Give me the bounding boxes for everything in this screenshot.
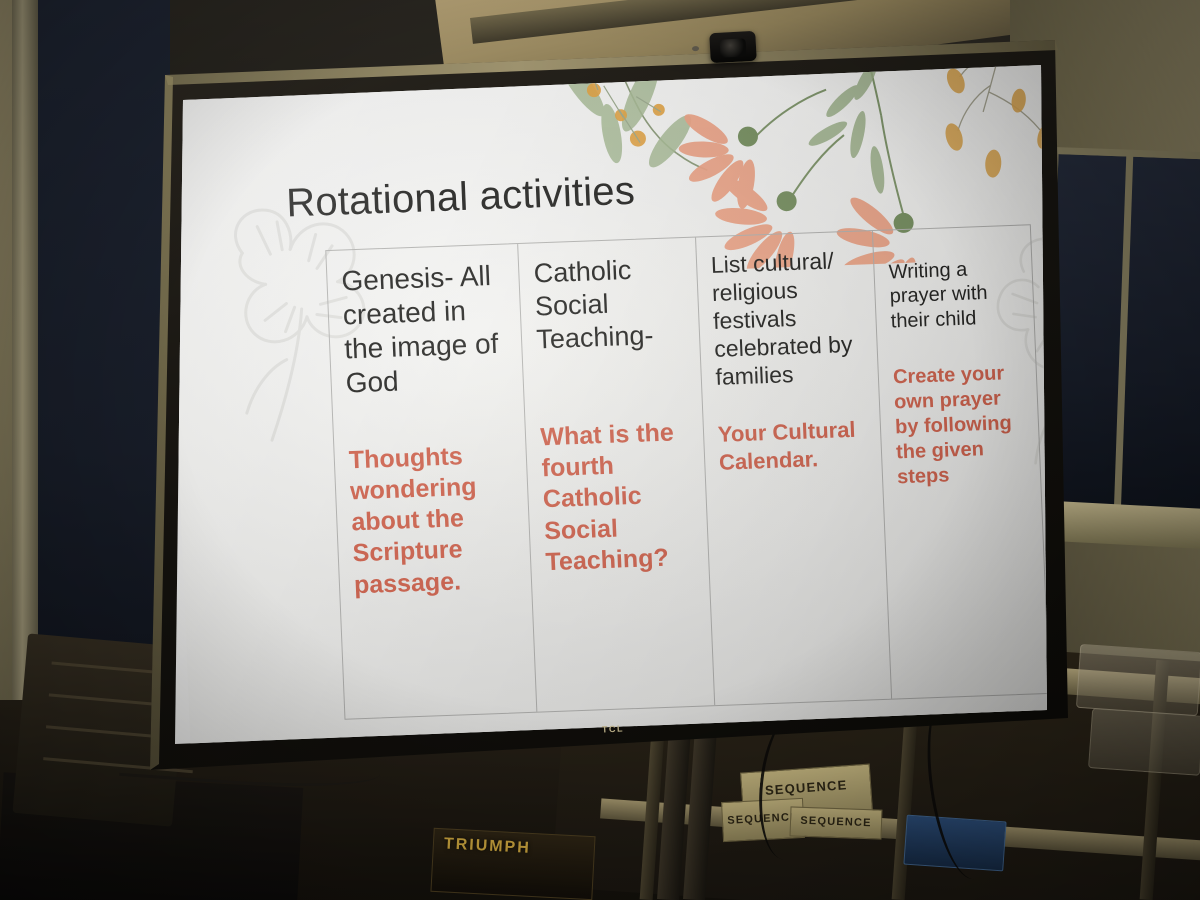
cell-task: Thoughts wondering about the Scripture p… <box>348 439 520 601</box>
webcam-lens-icon <box>720 38 747 57</box>
classroom-photo: SEQUENCE SEQUENCE SEQUENCE TRIUMPH <box>0 0 1200 900</box>
cell-task: What is the fourth Catholic Social Teach… <box>540 417 697 579</box>
cell-heading: Writing a prayer with their child <box>888 256 1022 334</box>
storage-tub <box>1076 644 1200 716</box>
table-cell-festivals[interactable]: List cultural/ religious festivals celeb… <box>696 231 892 705</box>
cell-heading: Genesis- All created in the image of God <box>341 259 512 402</box>
presentation-slide[interactable]: Rotational activities Genesis- All creat… <box>175 62 1047 744</box>
display-brand-logo: TCL <box>602 723 625 734</box>
cell-heading: List cultural/ religious festivals celeb… <box>710 246 866 392</box>
cell-task: Your Cultural Calendar. <box>717 416 870 476</box>
table-cell-catholic-social-teaching[interactable]: Catholic Social Teaching- What is the fo… <box>518 238 714 712</box>
webcam-indicator-icon <box>692 46 699 51</box>
wall-display[interactable]: Rotational activities Genesis- All creat… <box>150 40 1070 770</box>
table-cell-prayer[interactable]: Writing a prayer with their child Create… <box>873 225 1047 698</box>
triumph-box: TRIUMPH <box>430 828 595 900</box>
cell-heading: Catholic Social Teaching- <box>533 252 687 356</box>
activities-table[interactable]: Genesis- All created in the image of God… <box>325 224 1047 719</box>
storage-tub <box>1088 708 1200 776</box>
display-screen[interactable]: Rotational activities Genesis- All creat… <box>175 62 1047 744</box>
webcam-icon <box>709 31 757 64</box>
cell-task: Create your own prayer by following the … <box>893 361 1029 491</box>
table-cell-genesis[interactable]: Genesis- All created in the image of God… <box>326 244 537 719</box>
